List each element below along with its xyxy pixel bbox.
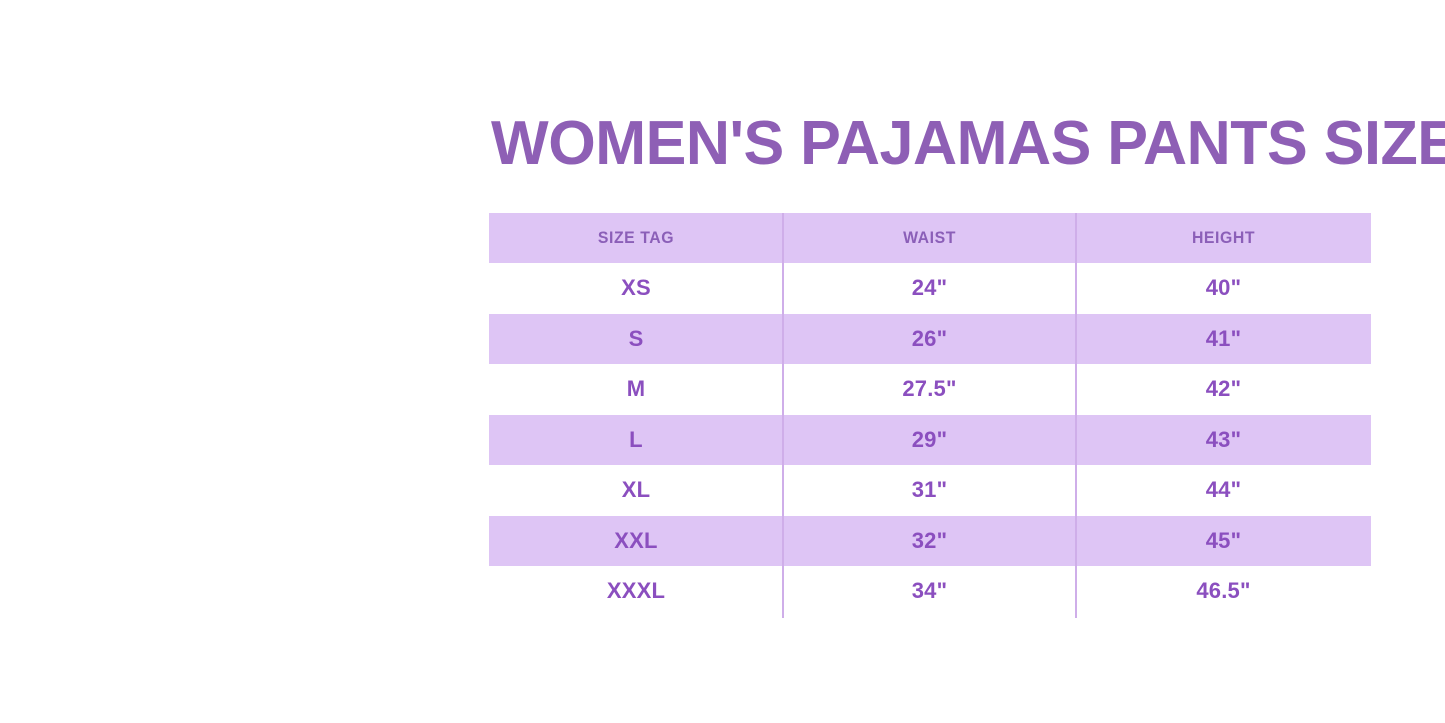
page-title: WOMEN'S PAJAMAS PANTS SIZE CHART — [491, 108, 1417, 180]
cell-size-tag: L — [489, 415, 783, 466]
table-header-row: SIZE TAG WAIST HEIGHT — [489, 213, 1371, 263]
table-row: XXXL 34" 46.5" — [489, 566, 1371, 617]
cell-waist: 32" — [783, 516, 1076, 567]
table-row: XS 24" 40" — [489, 263, 1371, 314]
cell-height: 45" — [1076, 516, 1371, 567]
cell-waist: 29" — [783, 415, 1076, 466]
cell-waist: 26" — [783, 314, 1076, 365]
table-row: XL 31" 44" — [489, 465, 1371, 516]
table-row: XXL 32" 45" — [489, 516, 1371, 567]
size-chart-page: WOMEN'S PAJAMAS PANTS SIZE CHART SIZE TA… — [0, 0, 1445, 723]
cell-waist: 31" — [783, 465, 1076, 516]
cell-waist: 27.5" — [783, 364, 1076, 415]
cell-waist: 24" — [783, 263, 1076, 314]
cell-size-tag: S — [489, 314, 783, 365]
table-body: XS 24" 40" S 26" 41" M 27.5" 42" L 29" — [489, 263, 1371, 617]
table-row: M 27.5" 42" — [489, 364, 1371, 415]
column-header-height: HEIGHT — [1086, 213, 1360, 263]
cell-size-tag: XL — [489, 465, 783, 516]
cell-height: 40" — [1076, 263, 1371, 314]
cell-height: 46.5" — [1076, 566, 1371, 617]
cell-size-tag: XXL — [489, 516, 783, 567]
table-row: L 29" 43" — [489, 415, 1371, 466]
table-header: SIZE TAG WAIST HEIGHT — [489, 213, 1371, 263]
size-chart-table: SIZE TAG WAIST HEIGHT XS 24" 40" S 26" 4… — [489, 213, 1371, 617]
cell-size-tag: XXXL — [489, 566, 783, 617]
column-header-waist: WAIST — [793, 213, 1065, 263]
cell-size-tag: M — [489, 364, 783, 415]
cell-height: 43" — [1076, 415, 1371, 466]
table-row: S 26" 41" — [489, 314, 1371, 365]
column-header-size-tag: SIZE TAG — [499, 213, 772, 263]
cell-waist: 34" — [783, 566, 1076, 617]
cell-height: 42" — [1076, 364, 1371, 415]
cell-height: 44" — [1076, 465, 1371, 516]
cell-size-tag: XS — [489, 263, 783, 314]
cell-height: 41" — [1076, 314, 1371, 365]
size-chart-table-container: SIZE TAG WAIST HEIGHT XS 24" 40" S 26" 4… — [489, 213, 1371, 617]
